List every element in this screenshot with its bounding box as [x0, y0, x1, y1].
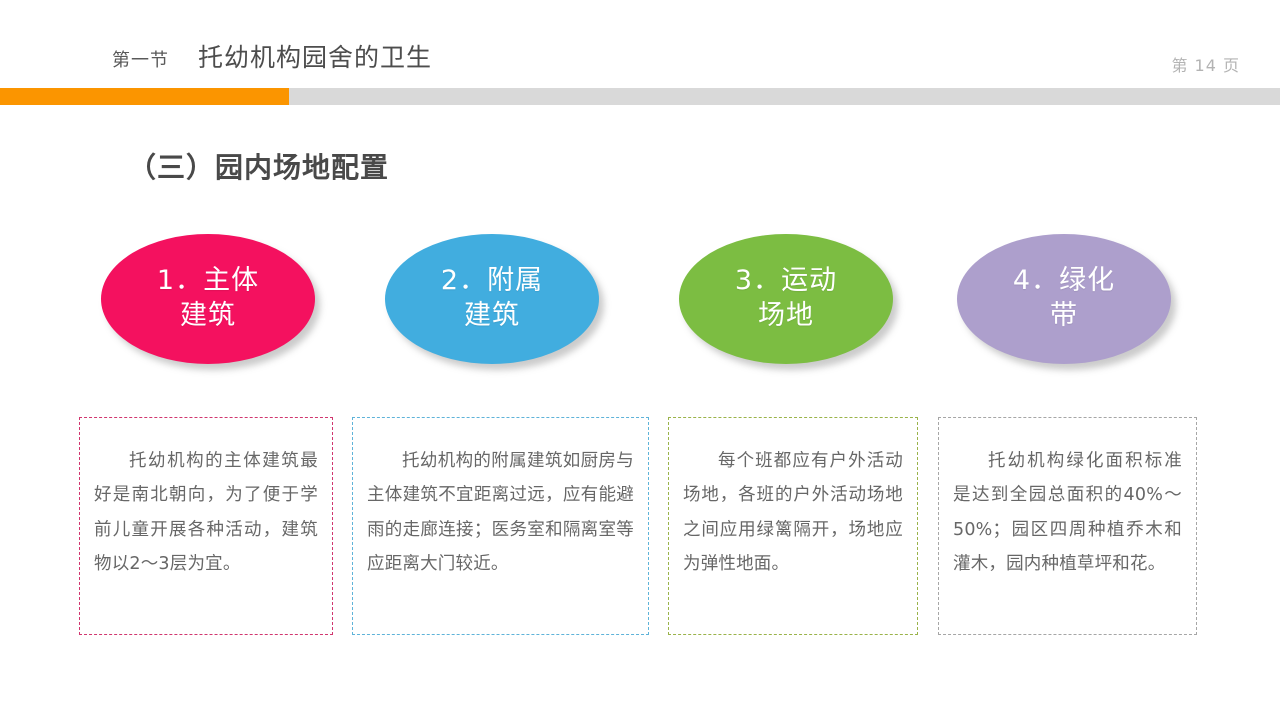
- ellipse-label-4: 4．绿化 带: [1003, 264, 1125, 333]
- section-title: 托幼机构园舍的卫生: [198, 38, 432, 74]
- textbox-text-1: 托幼机构的主体建筑最好是南北朝向，为了便于学前儿童开展各种活动，建筑物以2～3层…: [94, 444, 318, 581]
- slide-root: 第一节 托幼机构园舍的卫生 第 14 页 （三）园内场地配置 1．主体 建筑 2…: [0, 0, 1280, 720]
- ellipse-label-1: 1．主体 建筑: [147, 264, 269, 333]
- ellipse-auxiliary-building[interactable]: 2．附属 建筑: [385, 234, 599, 364]
- ellipse-group: 1．主体 建筑 2．附属 建筑 3．运动 场地 4．绿化 带: [0, 234, 1280, 384]
- slide-header: 第一节 托幼机构园舍的卫生 第 14 页: [0, 36, 1280, 80]
- textbox-auxiliary-building: 托幼机构的附属建筑如厨房与主体建筑不宜距离过远，应有能避雨的走廊连接；医务室和隔…: [352, 417, 649, 635]
- section-label: 第一节: [112, 46, 169, 72]
- page-number: 第 14 页: [1171, 52, 1240, 76]
- textbox-sports-ground: 每个班都应有户外活动场地，各班的户外活动场地之间应用绿篱隔开，场地应为弹性地面。: [668, 417, 918, 635]
- header-divider-bar-orange: [0, 88, 289, 105]
- textbox-text-3: 每个班都应有户外活动场地，各班的户外活动场地之间应用绿篱隔开，场地应为弹性地面。: [683, 444, 903, 581]
- textbox-text-4: 托幼机构绿化面积标准是达到全园总面积的40%～50%；园区四周种植乔木和灌木，园…: [953, 444, 1182, 581]
- page-title: （三）园内场地配置: [128, 146, 389, 186]
- ellipse-label-2: 2．附属 建筑: [431, 264, 553, 333]
- textbox-group: 托幼机构的主体建筑最好是南北朝向，为了便于学前儿童开展各种活动，建筑物以2～3层…: [0, 417, 1280, 637]
- ellipse-green-belt[interactable]: 4．绿化 带: [957, 234, 1171, 364]
- textbox-main-building: 托幼机构的主体建筑最好是南北朝向，为了便于学前儿童开展各种活动，建筑物以2～3层…: [79, 417, 333, 635]
- ellipse-label-3: 3．运动 场地: [725, 264, 847, 333]
- ellipse-sports-ground[interactable]: 3．运动 场地: [679, 234, 893, 364]
- ellipse-main-building[interactable]: 1．主体 建筑: [101, 234, 315, 364]
- textbox-green-belt: 托幼机构绿化面积标准是达到全园总面积的40%～50%；园区四周种植乔木和灌木，园…: [938, 417, 1197, 635]
- textbox-text-2: 托幼机构的附属建筑如厨房与主体建筑不宜距离过远，应有能避雨的走廊连接；医务室和隔…: [367, 444, 634, 581]
